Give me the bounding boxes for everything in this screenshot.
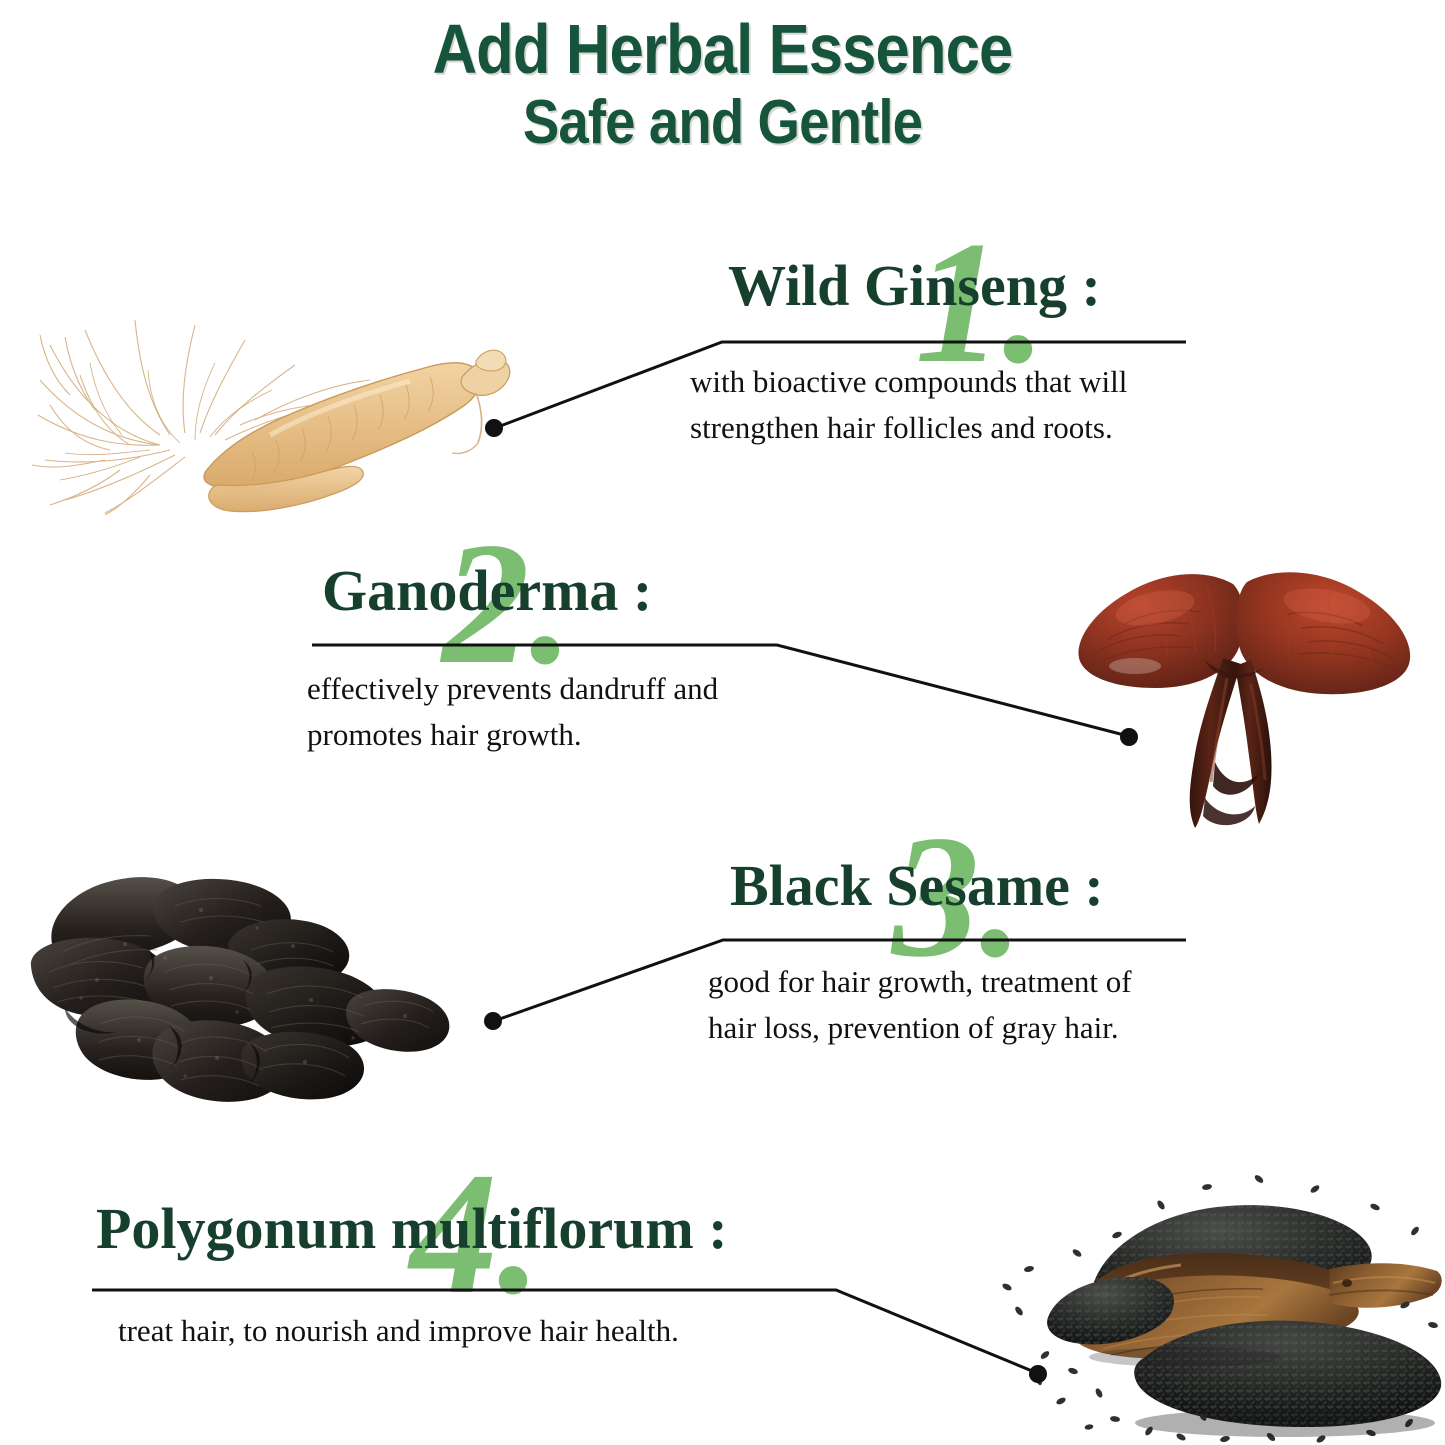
section-3-heading: Black Sesame : xyxy=(730,855,1132,917)
section-1-body-line-2: strengthen hair follicles and roots. xyxy=(690,405,1127,451)
infographic-canvas: Add Herbal Essence Safe and Gentle xyxy=(0,0,1445,1445)
section-4-body-line-1: treat hair, to nourish and improve hair … xyxy=(118,1308,728,1354)
section-2-heading: Ganoderma : xyxy=(322,560,718,622)
section-1-body-line-1: with bioactive compounds that will xyxy=(690,359,1127,405)
section-3-body-line-1: good for hair growth, treatment of xyxy=(708,959,1132,1005)
section-4-heading: Polygonum multiflorum : xyxy=(96,1198,728,1260)
section-3-body-line-2: hair loss, prevention of gray hair. xyxy=(708,1005,1132,1051)
section-2-body-line-2: promotes hair growth. xyxy=(307,712,718,758)
section-1-heading: Wild Ginseng : xyxy=(728,255,1127,317)
section-2-body-line-1: effectively prevents dandruff and xyxy=(307,666,718,712)
